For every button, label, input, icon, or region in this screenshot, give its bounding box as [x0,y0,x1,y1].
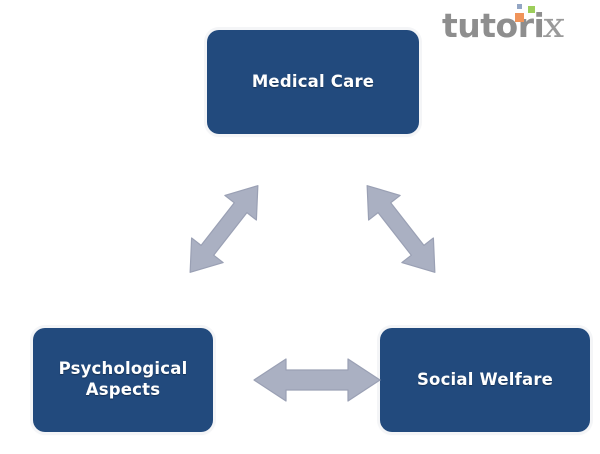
logo-dot-green-icon [528,6,535,13]
tutorix-logo: tutorix [442,4,592,48]
logo-dot-orange-icon [515,13,524,22]
logo-wordmark: tutorix [442,6,564,46]
node-medical-care-label: Medical Care [252,72,374,93]
node-social-welfare-label: Social Welfare [417,370,553,391]
node-psychological-aspects: Psychological Aspects [33,328,213,432]
arrow-medical-to-social-icon [355,172,447,286]
logo-dot-blue-icon [517,4,522,9]
node-medical-care: Medical Care [207,30,419,134]
arrow-psychological-to-social-icon [252,355,382,405]
node-psychological-aspects-label: Psychological Aspects [59,359,188,400]
diagram-canvas: tutorix Medical Care Psychological Aspec… [0,0,600,454]
arrow-medical-to-psychological-icon [178,172,270,286]
logo-dots-group [515,4,541,24]
node-social-welfare: Social Welfare [380,328,590,432]
logo-x-glyph: x [542,6,566,46]
